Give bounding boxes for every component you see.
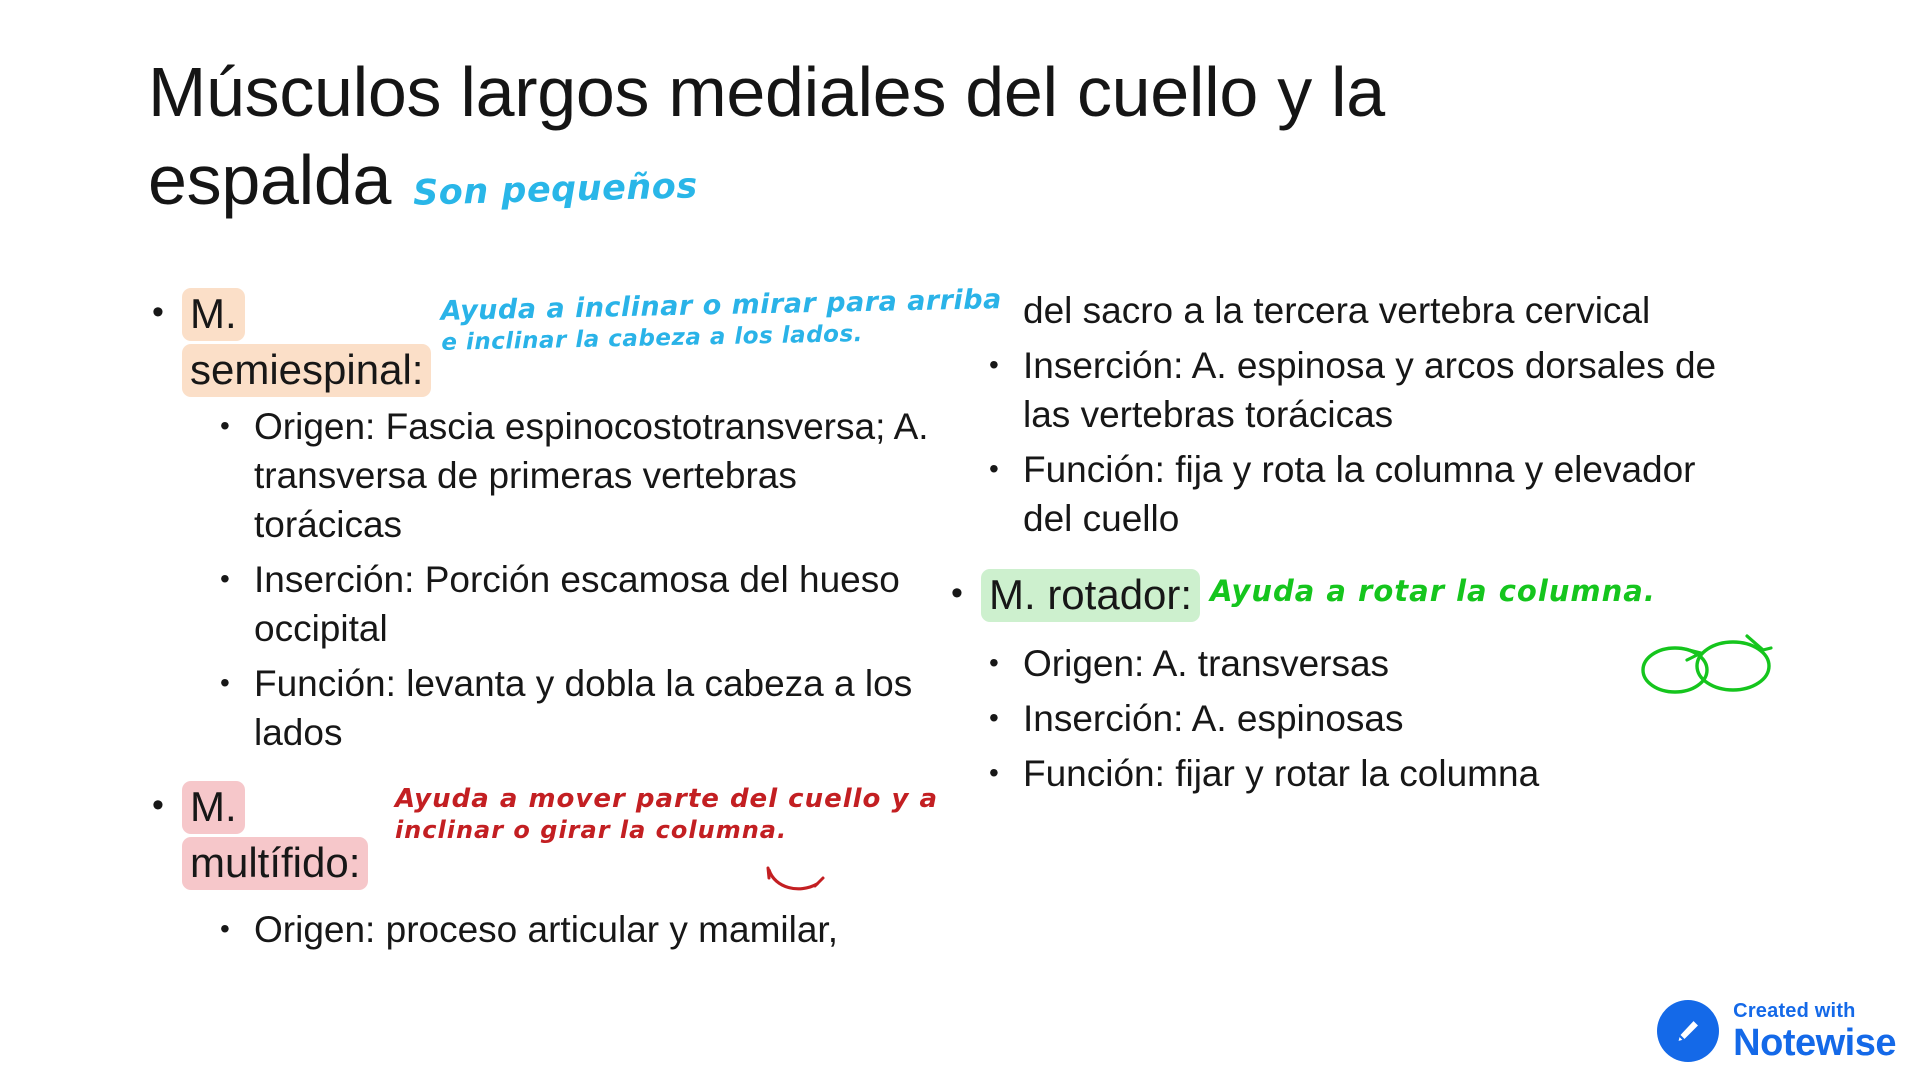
- created-with-label: Created with: [1733, 1001, 1896, 1021]
- left-column: M. semiespinal: Ayuda a inclinar o mirar…: [148, 286, 938, 960]
- notewise-text: Created with Notewise: [1733, 1001, 1896, 1062]
- title-line-2: espalda: [148, 136, 391, 224]
- green-rotation-doodle-icon: [1635, 630, 1775, 700]
- slide-canvas: Músculos largos mediales del cuello y la…: [0, 0, 1920, 1080]
- list-item: Función: fijar y rotar la columna: [985, 749, 1745, 798]
- title-line-1: Músculos largos mediales del cuello y la: [148, 48, 1648, 136]
- handwritten-note-rotador: Ayuda a rotar la columna.: [1210, 576, 1656, 606]
- list-item: Función: fija y rota la columna y elevad…: [985, 445, 1745, 543]
- sublist-semiespinal: Origen: Fascia espinocostotransversa; A.…: [216, 402, 938, 757]
- highlight-peach: M. semiespinal:: [182, 288, 431, 397]
- bullet-rotador: M. rotador:: [947, 567, 1200, 623]
- page-title: Músculos largos mediales del cuello y la…: [148, 48, 1648, 224]
- list-item: Inserción: Porción escamosa del hueso oc…: [216, 555, 938, 653]
- note-semiespinal-line1: Ayuda a inclinar o mirar para arriba: [441, 285, 1003, 327]
- sublist-rotador: Origen: A. transversas Inserción: A. esp…: [985, 639, 1745, 798]
- bullet-semiespinal: M. semiespinal:: [148, 286, 431, 398]
- handwritten-note-title: Son pequeños: [413, 166, 699, 213]
- right-column: del sacro a la tercera vertebra cervical…: [985, 286, 1745, 804]
- notewise-wordmark: Notewise: [1733, 1024, 1896, 1062]
- highlight-green: M. rotador:: [981, 569, 1200, 622]
- continuation-text: del sacro a la tercera vertebra cervical: [985, 286, 1745, 335]
- sublist-multifido: Origen: proceso articular y mamilar,: [216, 905, 938, 954]
- handwritten-note-multifido: Ayuda a mover parte del cuello y a incli…: [395, 784, 938, 845]
- handwritten-note-semiespinal: Ayuda a inclinar o mirar para arriba e i…: [441, 285, 1003, 358]
- list-item: Origen: proceso articular y mamilar,: [216, 905, 938, 954]
- red-squiggle-doodle: [765, 862, 835, 900]
- note-multifido-line1: Ayuda a mover parte del cuello y a: [395, 784, 938, 814]
- list-item: Inserción: A. espinosas: [985, 694, 1745, 743]
- list-item: Función: levanta y dobla la cabeza a los…: [216, 659, 938, 757]
- heading-semiespinal: M. semiespinal: Ayuda a inclinar o mirar…: [148, 286, 938, 402]
- pen-icon: [1657, 1000, 1719, 1062]
- list-item: Inserción: A. espinosa y arcos dorsales …: [985, 341, 1745, 439]
- heading-rotador: M. rotador: Ayuda a rotar la columna.: [947, 567, 1745, 627]
- highlight-pink: M. multífido:: [182, 781, 368, 890]
- list-item: Origen: A. transversas: [985, 639, 1745, 688]
- note-semiespinal-line2: e inclinar la cabeza a los lados.: [442, 316, 1004, 358]
- note-multifido-line2: inclinar o girar la columna.: [395, 815, 938, 845]
- sublist-multifido-cont: Inserción: A. espinosa y arcos dorsales …: [985, 341, 1745, 543]
- bullet-multifido: M. multífido:: [148, 779, 385, 891]
- list-item: Origen: Fascia espinocostotransversa; A.…: [216, 402, 938, 549]
- notewise-badge[interactable]: Created with Notewise: [1657, 1000, 1896, 1062]
